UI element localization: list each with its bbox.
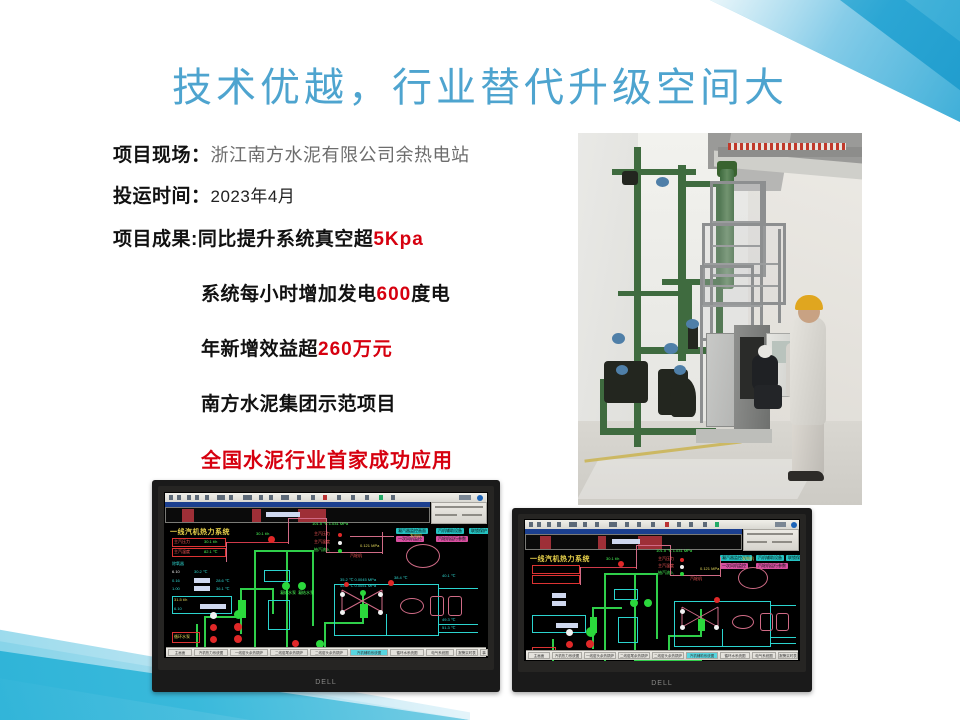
scada-readout-extraction-pressure: 0.121 MPa [360, 544, 379, 548]
scada-status-panel [431, 502, 487, 524]
scada-valve-indicator-9[interactable] [360, 590, 366, 596]
scada-r-label-generator: 发电机 [742, 557, 754, 561]
scada-r-btn-6[interactable]: 循环水系统图 [720, 652, 750, 659]
scada-tag-cyan-2[interactable]: 联锁保护 [469, 528, 488, 534]
fact-row-hourly-power: 系统每小时增加发电600度电 [113, 279, 583, 306]
scada-r-readout-steam: 101.5 ℃ 1.031 MPa [656, 549, 692, 553]
scada-tank-symbol [264, 570, 290, 582]
scada-trend-window-right[interactable] [525, 534, 742, 550]
scada-r-btn-1[interactable]: 汽机热力系统图 [552, 652, 582, 659]
slide-title: 技术优越，行业替代升级空间大 [0, 66, 960, 110]
fact-highlight-annual-benefit: 260万元 [318, 339, 393, 360]
photo-valve-top [656, 177, 669, 187]
scada-r-led-green [680, 572, 684, 576]
scada-r-field-c[interactable] [556, 623, 578, 628]
fact-value-hourly-power: 系统每小时增加发电 [201, 284, 377, 305]
scada-trend-window[interactable] [165, 507, 430, 523]
scada-cooler-a [430, 596, 444, 616]
scada-r-box-a [532, 565, 580, 574]
scada-r-btn-2[interactable]: 一线窑头余热锅炉 [584, 652, 616, 659]
photo-valve-mid-b [674, 365, 686, 375]
scada-readout-level-c: 6.10 [174, 607, 182, 611]
scada-title-left: 一线汽机热力系统 [170, 527, 230, 537]
scada-readout-level-a: 6.10 [172, 570, 180, 574]
scada-legend-main-steam-pressure: 主汽压力 [314, 532, 330, 536]
scada-r-valve-11[interactable] [714, 625, 719, 630]
scada-label-circ-pump: 循环水泵 [174, 635, 190, 639]
fact-row-first-application: 全国水泥行业首家成功应用 [113, 444, 583, 473]
scada-readout-level-b: 30.2 ℃ [194, 570, 207, 574]
photo-frame-post-d [700, 265, 703, 423]
photo-valve-low-c [616, 365, 628, 375]
scada-vessel-symbol [268, 600, 290, 630]
fact-row-annual-benefit: 年新增效益超260万元 [113, 334, 583, 361]
scada-tag-cyan-1[interactable]: 汽机辅助设备 [436, 528, 464, 534]
monitor-left-brand: DELL [152, 679, 500, 686]
fact-row-site: 项目现场：浙江南方水泥有限公司余热电站 [113, 140, 583, 167]
scada-btn-2[interactable]: 一线窑头余热锅炉 [230, 649, 268, 656]
scada-btn-7[interactable]: 电气系统图 [426, 649, 454, 656]
scada-r-tank [614, 589, 638, 600]
scada-r-level-a [590, 617, 597, 633]
photo-valve-mid-a [686, 319, 699, 329]
scada-r-valve-5[interactable] [566, 641, 573, 648]
scada-toolbar[interactable] [165, 493, 487, 502]
scada-cooler-b [448, 596, 462, 616]
scada-circ-pump-symbol [400, 598, 424, 614]
scada-valve-indicator-11[interactable] [340, 592, 345, 597]
scada-level-bar-b [360, 604, 368, 618]
scada-r-cooler-a [760, 613, 773, 631]
scada-label-generator: 发电机 [410, 534, 422, 538]
photo-floor-reflection [578, 459, 819, 499]
scada-legend-main-steam-temp: 主汽温度 [314, 540, 330, 544]
scada-readout-steam-flow: 30.1 t/h [256, 532, 269, 536]
dcs-monitor-right: 一线汽机热力系统 凝汽器监控画面 汽机辅助设备 联锁保护 一次风机监控 汽轮机运… [512, 508, 812, 692]
scada-r-btn-7[interactable]: 电气系统图 [752, 652, 776, 659]
scada-valve-indicator-3[interactable] [298, 582, 306, 590]
fact-suffix-hourly-power: 度电 [411, 284, 450, 305]
scada-r-readout-extraction: 0.121 MPa [700, 567, 719, 571]
scada-r-field-b[interactable] [552, 601, 566, 606]
fact-label-site: 项目现场： [113, 145, 211, 166]
scada-btn-4[interactable]: 二线窑头余热锅炉 [310, 649, 348, 656]
scada-r-vessel [618, 617, 638, 643]
monitor-right-screen[interactable]: 一线汽机热力系统 凝汽器监控画面 汽机辅助设备 联锁保护 一次风机监控 汽轮机运… [524, 519, 800, 661]
scada-label-cond-pump-b: 凝结水泵 [298, 591, 314, 595]
scada-r-pump-2[interactable] [586, 640, 594, 648]
scada-level-bar-a [238, 600, 246, 618]
photo-equipment-plinth [696, 429, 772, 443]
scada-r-led-white [680, 565, 684, 569]
scada-mimic-left: 一线汽机热力系统 凝汽器监控画面 汽机辅助设备 联锁保护 一次风机监控 汽轮机运… [164, 492, 488, 658]
fact-value-annual-benefit: 年新增效益超 [201, 339, 318, 360]
photo-frame-rung-e [702, 305, 762, 307]
scada-readout-main-steam-temp-lbl: 主汽温度 [174, 550, 190, 554]
fact-value-result-vacuum: 同比提升系统真空超 [198, 229, 374, 250]
scada-toolbar-right[interactable] [525, 520, 799, 529]
photo-worker-crouching-legs [754, 385, 782, 409]
scada-field-c[interactable] [200, 604, 226, 609]
photo-worker-standing-body [790, 317, 826, 425]
scada-generator-symbol [406, 544, 440, 568]
plant-room-photo [578, 133, 862, 505]
photo-frame-rung-b [712, 245, 760, 247]
scada-mimic-right: 一线汽机热力系统 凝汽器监控画面 汽机辅助设备 联锁保护 一次风机监控 汽轮机运… [524, 519, 800, 661]
scada-r-btn-8[interactable]: 报警实时表 [778, 652, 798, 659]
fact-value-site: 浙江南方水泥有限公司余热电站 [211, 145, 470, 165]
scada-tag-mag-1[interactable]: 汽轮机运行参数 [436, 536, 468, 542]
scada-valve-indicator-1[interactable] [268, 536, 275, 543]
fact-highlight-hourly-power: 600 [377, 284, 412, 305]
scada-valve-indicator-15[interactable] [388, 580, 394, 586]
scada-legend-extraction: 抽汽流入 [314, 548, 330, 552]
scada-btn-0[interactable]: 主画面 [168, 649, 192, 656]
slide-root: 技术优越，行业替代升级空间大 项目现场：浙江南方水泥有限公司余热电站 投运时间：… [0, 0, 960, 720]
photo-pipe-fitting-top [622, 171, 638, 185]
scada-r-btn-4[interactable]: 二线窑头余热锅炉 [652, 652, 684, 659]
scada-readout-setpoint-b: 1.00 [172, 587, 180, 591]
scada-button-bar-right: 主画面 汽机热力系统图 一线窑头余热锅炉 二线窑尾余热锅炉 二线窑头余热锅炉 汽… [526, 650, 798, 660]
photo-frame-rung-d [704, 285, 778, 287]
monitor-right-brand: DELL [512, 680, 812, 687]
scada-btn-9[interactable]: 事故追忆 [480, 649, 488, 656]
scada-r-legend-c: 抽汽流入 [658, 571, 674, 575]
scada-label-turbine: 汽轮机 [350, 554, 362, 558]
photo-pump-motor [670, 377, 696, 417]
scada-label-cond-pump-a: 凝结水泵 [280, 591, 296, 595]
photo-valve-low-a [664, 343, 678, 354]
photo-pipe-vertical-secondary [678, 165, 686, 361]
scada-valve-indicator-12[interactable] [378, 592, 383, 597]
scada-r-legend-a: 主汽压力 [658, 557, 674, 561]
fact-label-commission-date: 投运时间： [113, 186, 211, 207]
scada-title-right: 一线汽机热力系统 [530, 554, 590, 564]
scada-r-valve-2[interactable] [630, 599, 638, 607]
photo-frame-post-c [778, 229, 781, 323]
scada-valve-indicator-14[interactable] [378, 610, 383, 615]
photo-worker-crouching-helmet [758, 345, 772, 358]
fact-value-demo-project: 南方水泥集团示范项目 [201, 394, 396, 415]
scada-r-circ-pump [732, 615, 754, 629]
scada-tag-cyan-right-1[interactable]: 汽机辅助设备 [756, 555, 784, 561]
scada-r-box-b [532, 575, 580, 584]
scada-status-panel-right [743, 529, 799, 551]
scada-btn-5[interactable]: 汽机辅助系统图 [350, 649, 388, 656]
fact-row-commission-date: 投运时间：2023年4月 [113, 181, 583, 208]
scada-r-valve-1[interactable] [618, 561, 624, 567]
scada-led-green-legend [338, 549, 342, 553]
scada-pump-indicator-2[interactable] [234, 623, 242, 631]
scada-btn-8[interactable]: 报警实时表 [456, 649, 478, 656]
photo-red-handrail [728, 143, 846, 150]
scada-readout-setpoint-a: 0.16 [172, 579, 180, 583]
scada-r-label-turbine: 汽轮机 [690, 577, 702, 581]
scada-btn-6[interactable]: 循环水系统图 [390, 649, 424, 656]
scada-readout-cw-supply: 40.1 ℃ [442, 574, 455, 578]
fact-row-demo-project: 南方水泥集团示范项目 [113, 389, 583, 416]
scada-valve-indicator-10[interactable] [344, 582, 349, 587]
dcs-monitor-left: 一线汽机热力系统 凝汽器监控画面 汽机辅助设备 联锁保护 一次风机监控 汽轮机运… [152, 480, 500, 692]
scada-tag-cyan-right-2[interactable]: 联锁保护 [786, 555, 800, 561]
scada-label-deaerator: 除氧器 [172, 562, 184, 566]
scada-field-b[interactable] [194, 586, 210, 591]
scada-r-btn-0[interactable]: 主画面 [528, 652, 550, 659]
scada-r-readout-flow: 30.1 t/h [606, 557, 619, 561]
scada-valve-indicator-6[interactable] [210, 636, 217, 643]
scada-readout-temp-a: 82.1 ℃ [204, 550, 217, 554]
scada-field-a[interactable] [194, 578, 210, 583]
fact-row-result-vacuum: 项目成果:同比提升系统真空超5Kpa [113, 224, 583, 251]
scada-readout-main-steam: 101.5 ℃ 1.031 MPa [312, 522, 348, 526]
scada-r-legend-b: 主汽温度 [658, 564, 674, 568]
scada-r-field-a[interactable] [552, 593, 566, 598]
scada-r-valve-10[interactable] [680, 609, 685, 614]
scada-r-cooler-b [776, 613, 789, 631]
scada-valve-indicator-5[interactable] [210, 624, 217, 631]
scada-pump-indicator-3[interactable] [234, 635, 242, 643]
scada-r-btn-3[interactable]: 二线窑尾余热锅炉 [618, 652, 650, 659]
scada-readout-flow-a: 30.1 t/h [204, 540, 217, 544]
scada-readout-cw-return-b: 51.3 ℃ [442, 626, 455, 630]
scada-r-generator [738, 567, 768, 589]
scada-led-white-legend [338, 541, 342, 545]
scada-r-valve-12[interactable] [680, 625, 685, 630]
scada-r-btn-5[interactable]: 汽机辅助系统图 [686, 652, 718, 659]
scada-r-led-red [680, 558, 684, 562]
scada-valve-indicator-7[interactable] [292, 640, 299, 647]
fact-list: 项目现场：浙江南方水泥有限公司余热电站 投运时间：2023年4月 项目成果:同比… [113, 140, 583, 477]
fact-value-commission-date: 2023年4月 [211, 187, 296, 206]
photo-frame-rung-c [704, 263, 778, 265]
scada-readout-hx-temp: 38.4 ℃ [394, 576, 407, 580]
scada-r-valve-3[interactable] [644, 599, 652, 607]
scada-button-bar-left: 主画面 汽机热力系统图 一线窑头余热锅炉 二线窑尾余热锅炉 二线窑头余热锅炉 汽… [166, 647, 486, 657]
scada-valve-indicator-13[interactable] [340, 610, 345, 615]
scada-btn-1[interactable]: 汽机热力系统图 [194, 649, 228, 656]
scada-readout-pressure-a: 28.6 ℃ [216, 579, 229, 583]
fact-label-result: 项目成果: [113, 229, 198, 250]
fact-value-first-application: 全国水泥行业首家成功应用 [201, 450, 453, 472]
scada-r-level-b [698, 619, 705, 631]
scada-r-valve-9[interactable] [714, 597, 720, 603]
scada-valve-indicator-2[interactable] [282, 582, 290, 590]
photo-frame-rung-a [712, 221, 760, 223]
photo-pipe-horizontal-mid [618, 291, 678, 296]
scada-readout-main-steam-pressure-lbl: 主汽压力 [174, 540, 190, 544]
fact-highlight-vacuum: 5Kpa [373, 229, 423, 250]
scada-readout-temp-b: 31.5 t/h [174, 598, 187, 602]
scada-readout-cw-return-a: 49.3 ℃ [442, 618, 455, 622]
scada-led-red-legend [338, 533, 342, 537]
photo-worker-standing-shoes [788, 471, 824, 481]
monitor-left-screen[interactable]: 一线汽机热力系统 凝汽器监控画面 汽机辅助设备 联锁保护 一次风机监控 汽轮机运… [164, 492, 488, 658]
photo-valve-low-b [612, 333, 625, 344]
scada-readout-pressure-b: 36.1 ℃ [216, 587, 229, 591]
scada-btn-3[interactable]: 二线窑尾余热锅炉 [270, 649, 308, 656]
scada-valve-indicator-4[interactable] [210, 612, 217, 619]
scada-r-valve-4[interactable] [566, 629, 573, 636]
